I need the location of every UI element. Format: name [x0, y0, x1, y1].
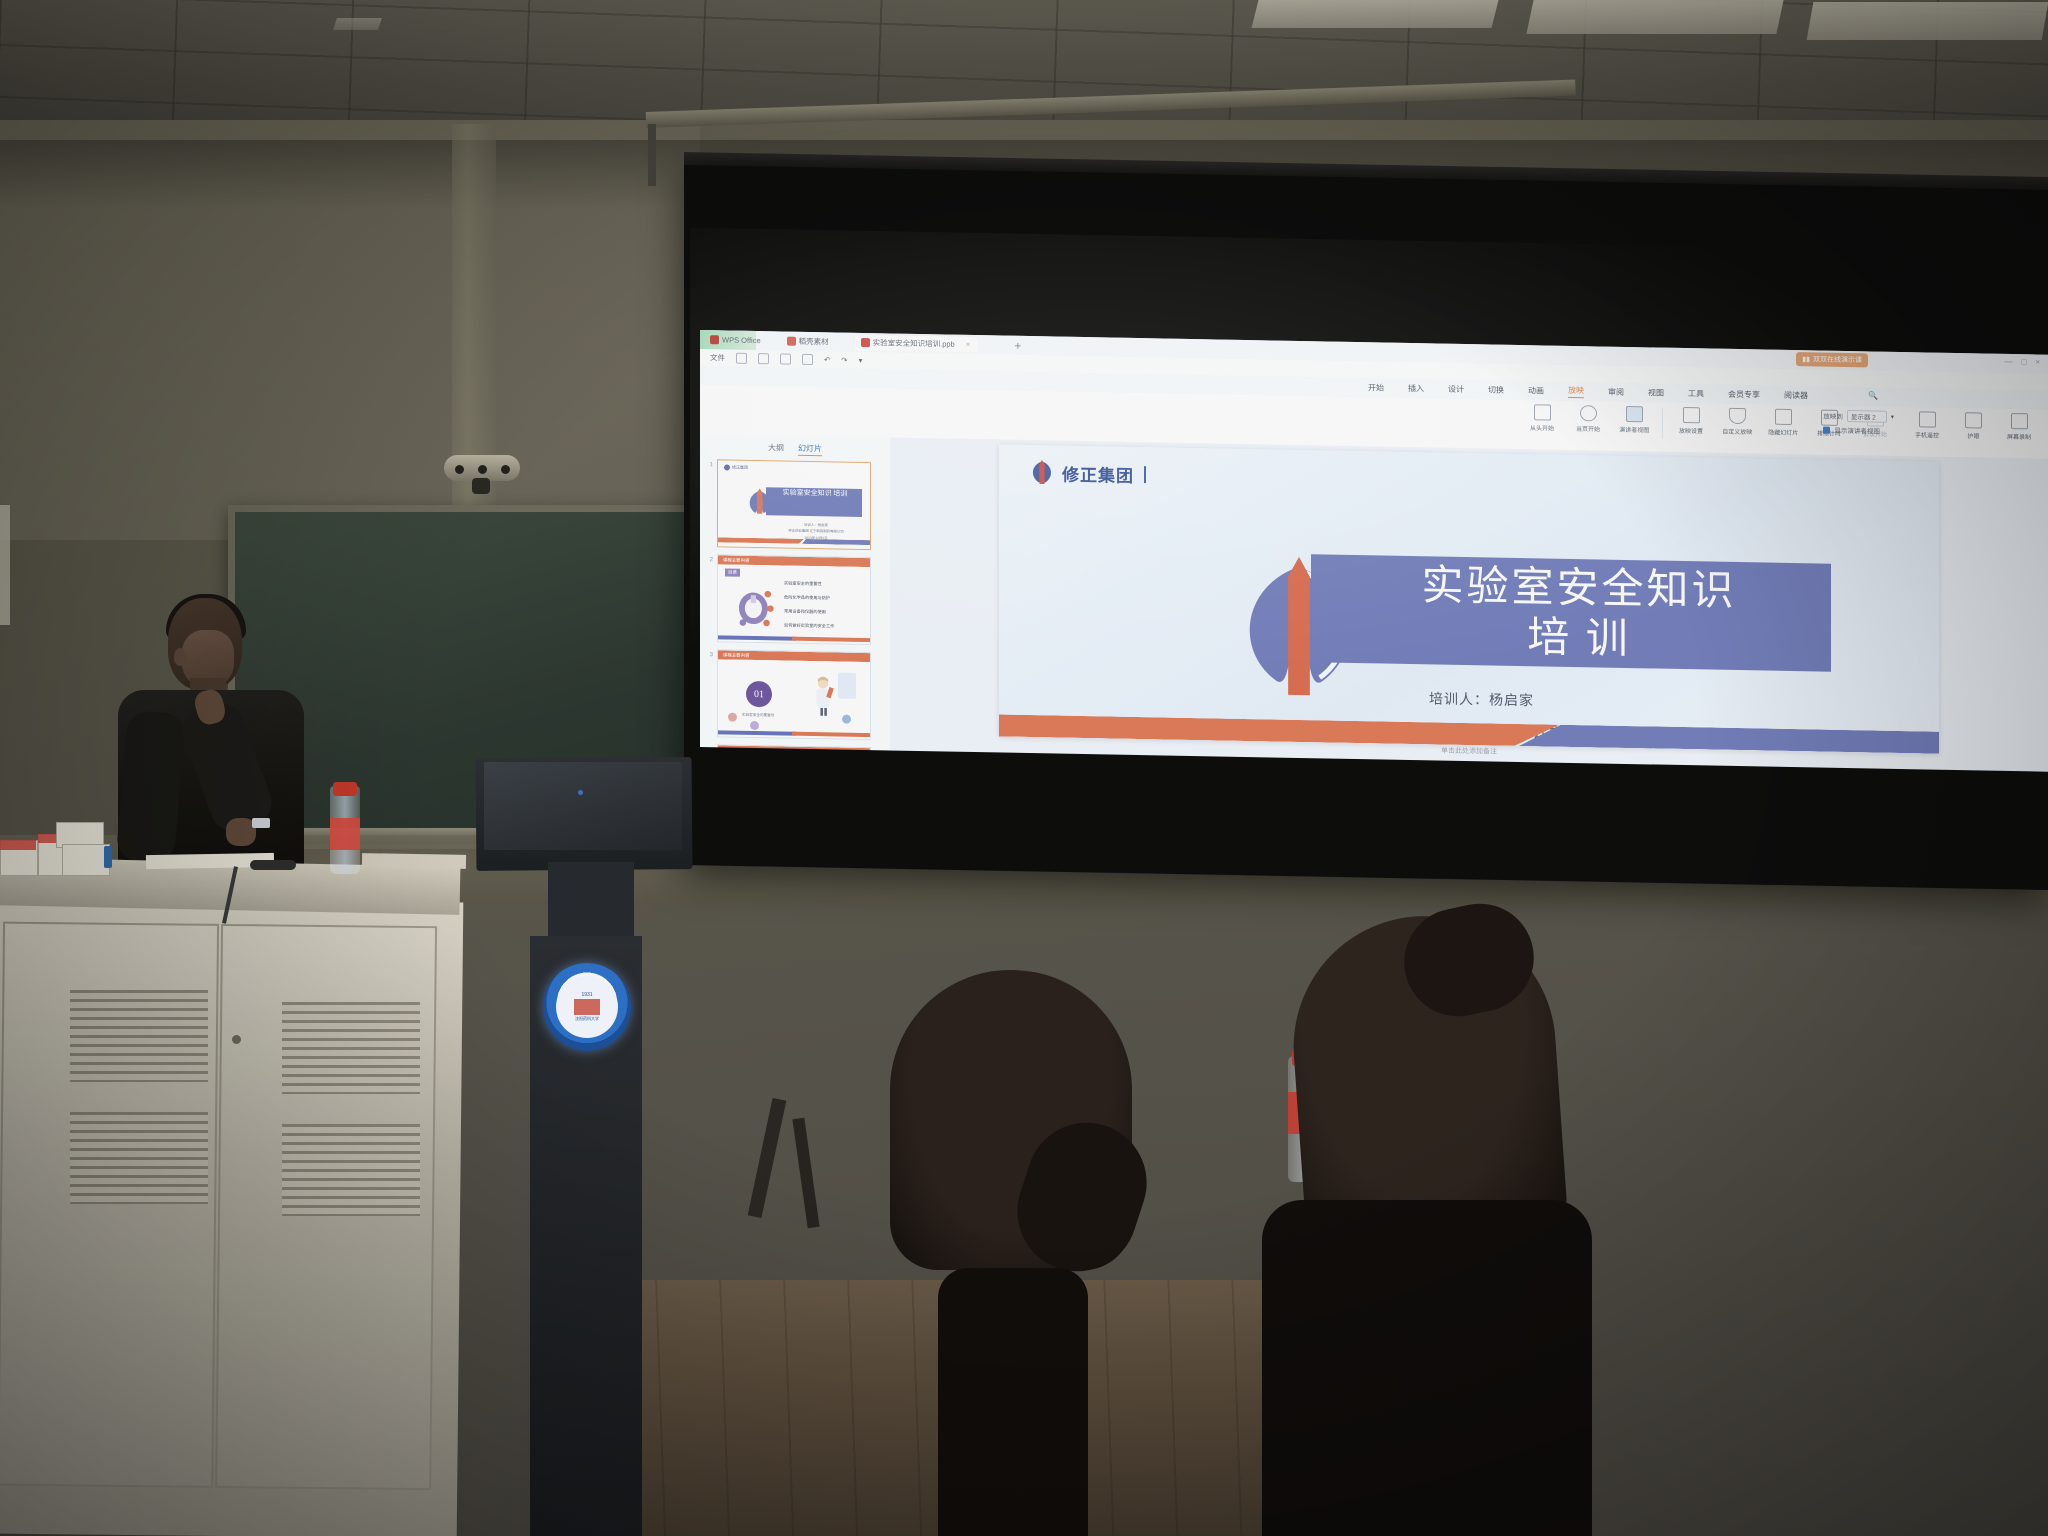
thumbnail-number: 1 — [706, 459, 713, 471]
thumb-footer-blue — [718, 730, 796, 735]
thumb-footer-blue — [718, 635, 796, 640]
slide-title: 实验室安全知识 培 训 — [1329, 561, 1829, 669]
water-bottle-label — [330, 818, 360, 850]
print-icon[interactable] — [780, 353, 791, 364]
thumbnail-number: 3 — [706, 649, 713, 661]
thumb-section-number: 01 — [746, 681, 772, 707]
tab-member[interactable]: 会员专享 — [1728, 388, 1760, 401]
podium-power-led — [578, 790, 583, 795]
chevron-down-icon[interactable]: ▾ — [1891, 413, 1894, 421]
close-tab-icon[interactable]: × — [966, 340, 971, 349]
tab-slides[interactable]: 幻灯片 — [798, 443, 822, 456]
thumbnail-row[interactable]: 2 课程主要内容 目录 — [706, 554, 884, 645]
button-play-from-start[interactable]: 从头开始 — [1519, 404, 1565, 433]
presenter-view-checkbox-label: 显示演讲者视图 — [1834, 425, 1880, 436]
box-stripe — [0, 840, 36, 850]
ribbon-right-group: 放映到 显示器 2 ▾ 显示演讲者视图 手机遥控 — [1823, 410, 2042, 442]
thumbnail-list: 1 修正集团 — [700, 459, 890, 772]
window-controls: — □ × — [2004, 357, 2040, 367]
ribbon-search-icon[interactable]: 🔍 — [1868, 391, 1878, 400]
button-label: 护眼 — [1967, 431, 1979, 440]
button-show-settings[interactable]: 放映设置 — [1668, 407, 1714, 436]
phone-remote-icon — [1919, 411, 1936, 427]
thumbnail-row[interactable]: 1 修正集团 — [706, 459, 884, 550]
microphone-base — [250, 860, 296, 870]
thumb-title: 实验室安全知识 培训 — [770, 488, 860, 498]
screen-mount-arm — [648, 124, 656, 186]
docer-tab[interactable]: 稻壳素材 — [787, 336, 829, 348]
thumb-logo: 修正集团 — [724, 464, 748, 470]
button-label: 屏幕录制 — [2007, 431, 2031, 441]
save-icon[interactable] — [736, 353, 747, 364]
presenter-ear — [174, 648, 186, 666]
slide-title-line2: 培 训 — [1329, 610, 1829, 669]
door-edge — [0, 505, 10, 625]
ceiling-light — [1252, 0, 1499, 28]
camera-dot — [455, 465, 464, 474]
virus-icon — [842, 715, 851, 724]
button-play-from-current[interactable]: 当页开始 — [1565, 405, 1611, 434]
eye-care-icon — [1965, 412, 1982, 428]
button-label: 演讲者视图 — [1619, 424, 1649, 434]
chevron-down-icon[interactable]: ▾ — [859, 356, 863, 365]
thumb-badge: 目录 — [725, 568, 740, 576]
docer-label: 稻壳素材 — [799, 336, 829, 348]
ceiling-light — [333, 18, 382, 30]
tab-slideshow[interactable]: 放映 — [1568, 385, 1584, 398]
virus-icon — [750, 721, 759, 730]
keyboard — [362, 853, 466, 869]
signal-icon: ▮▮ — [1802, 355, 1810, 363]
new-tab-button[interactable]: + — [1014, 338, 1021, 352]
box — [62, 844, 110, 876]
thumb-header-band-2 — [818, 557, 870, 567]
button-label: 隐藏幻灯片 — [1768, 427, 1798, 437]
tab-tools[interactable]: 工具 — [1688, 388, 1704, 400]
thumb-list-item: 常用设备和仪器的使用 — [784, 609, 826, 616]
wps-logo-icon — [710, 335, 719, 344]
marker-pen — [104, 846, 112, 868]
document-tab[interactable]: 实验室安全知识培训.ppb × — [855, 335, 979, 352]
company-mark-icon — [724, 464, 730, 470]
search-icon[interactable] — [758, 353, 769, 364]
print-preview-icon[interactable] — [802, 354, 813, 365]
minimize-button[interactable]: — — [2004, 357, 2012, 366]
lecture-hall-scene: ◄ ⬤ ▬ ▬ WPS Office 稻壳素材 实验室安全知识培训.ppb × — [0, 0, 2048, 1536]
ribbon-divider — [1662, 409, 1663, 439]
slide-company-logo: 修正集团 — [1029, 459, 1146, 487]
thumb-caption: 实验室安全的重要性 — [742, 713, 774, 719]
show-settings-icon — [1683, 407, 1700, 423]
thumbnail-row[interactable]: 3 课程主要内容 01 实验室安全的重要性 — [706, 649, 884, 740]
play-from-current-icon — [1580, 405, 1597, 421]
flask-hub-icon — [736, 586, 776, 629]
live-share-badge[interactable]: ▮▮ 双双在线演示课 — [1796, 352, 1868, 367]
display-target-select[interactable]: 显示器 2 — [1847, 410, 1887, 423]
checkbox-checked-icon[interactable] — [1823, 426, 1830, 433]
close-button[interactable]: × — [2035, 357, 2040, 366]
hide-slide-icon — [1775, 409, 1792, 425]
play-from-start-icon — [1534, 404, 1551, 420]
thumb-footer-orange — [792, 732, 870, 737]
button-label: 当页开始 — [1576, 423, 1600, 433]
button-screen-record[interactable]: 屏幕录制 — [1996, 413, 2042, 442]
ppt-file-icon — [861, 338, 870, 347]
display-target-label: 放映到 — [1823, 411, 1843, 421]
tab-view[interactable]: 视图 — [1648, 387, 1664, 399]
slide-thumbnail-1[interactable]: 修正集团 实验室安全知识 培训 培训人：杨启家修正药业集团 辽宁新高制药有限公司… — [717, 459, 871, 550]
projected-image: WPS Office 稻壳素材 实验室安全知识培训.ppb × + ▮▮ 双双在… — [700, 247, 2048, 772]
work-area: 大纲 幻灯片 1 修正集团 — [700, 434, 2048, 772]
button-eye-care[interactable]: 护眼 — [1950, 412, 1996, 441]
presenter-view-icon — [1626, 406, 1643, 422]
tab-review[interactable]: 审阅 — [1608, 386, 1624, 398]
custom-show-icon — [1729, 408, 1746, 424]
thumb-list-item: 实验室安全的重要性 — [784, 581, 822, 588]
button-label: 从头开始 — [1530, 423, 1554, 433]
thumb-header-label: 课程主要内容 — [723, 557, 749, 563]
scientist-icon — [810, 674, 836, 718]
cabinet-vent — [282, 1002, 420, 1094]
audience-member-1-body — [938, 1268, 1088, 1536]
thumbnail-number: 2 — [706, 554, 713, 566]
button-phone-remote[interactable]: 手机遥控 — [1904, 411, 1950, 440]
slide-thumbnail-2[interactable]: 课程主要内容 目录 — [717, 554, 871, 645]
cabinet-vent — [282, 1124, 420, 1216]
cabinet-vent — [70, 1112, 208, 1204]
thumb-list-item: 危险化学品的使用与防护 — [784, 595, 830, 602]
slide-canvas-area: 修正集团 实验室安全知识 培 训 — [890, 437, 2048, 771]
university-crest-inner: 1931 沈阳药科大学 — [556, 976, 618, 1038]
desk-boxes — [0, 818, 112, 874]
current-slide[interactable]: 修正集团 实验室安全知识 培 训 — [999, 444, 1939, 753]
audience-member-2-body — [1262, 1200, 1592, 1536]
tab-start[interactable]: 开始 — [1368, 382, 1384, 394]
virus-icon — [728, 713, 737, 722]
cabinet-vent — [70, 990, 208, 1082]
live-share-label: 双双在线演示课 — [1813, 354, 1862, 365]
ceiling-light — [1526, 0, 1783, 34]
cabinet-handle[interactable] — [232, 1035, 241, 1044]
camera-lens — [472, 478, 490, 494]
redo-icon[interactable]: ↷ — [841, 356, 847, 365]
crest-name: 沈阳药科大学 — [575, 1016, 599, 1022]
tab-reader[interactable]: 阅读器 — [1784, 389, 1808, 401]
file-menu-button[interactable]: 文件 — [710, 352, 725, 363]
button-label: 手机遥控 — [1915, 430, 1939, 440]
maximize-button[interactable]: □ — [2021, 357, 2026, 366]
presenter-view-checkbox-row[interactable]: 显示演讲者视图 — [1823, 425, 1894, 436]
thumb-header-label: 课程主要内容 — [723, 652, 749, 658]
company-mark-icon — [1029, 459, 1055, 485]
camera-dot — [501, 465, 510, 474]
screen-record-icon — [2011, 413, 2028, 429]
company-logo-text: 修正集团 — [1062, 460, 1134, 486]
button-hide-slide[interactable]: 隐藏幻灯片 — [1760, 408, 1806, 437]
tab-insert[interactable]: 插入 — [1408, 382, 1424, 394]
button-label: 放映设置 — [1679, 425, 1703, 435]
camera-dot — [478, 465, 487, 474]
button-presenter-view[interactable]: 演讲者视图 — [1611, 406, 1657, 435]
tab-outline[interactable]: 大纲 — [768, 442, 784, 455]
crest-year: 1931 — [581, 992, 592, 998]
thumb-list-item: 如何做好实验室的安全工作 — [784, 623, 834, 630]
undo-icon[interactable]: ↶ — [824, 355, 830, 364]
crest-building-icon — [574, 999, 600, 1015]
slide-thumbnail-panel: 大纲 幻灯片 1 修正集团 — [700, 434, 890, 757]
tab-design[interactable]: 设计 — [1448, 383, 1464, 395]
thumb-header-band-2 — [818, 652, 870, 662]
app-name-label: WPS Office — [722, 335, 761, 345]
water-bottle-cap — [333, 782, 357, 796]
tab-transition[interactable]: 切换 — [1488, 384, 1504, 396]
wps-office-window: WPS Office 稻壳素材 实验室安全知识培训.ppb × + ▮▮ 双双在… — [700, 330, 2048, 772]
button-label: 自定义放映 — [1722, 426, 1752, 436]
display-settings-group: 放映到 显示器 2 ▾ 显示演讲者视图 — [1823, 410, 1894, 436]
podium-monitor-screen — [484, 762, 682, 850]
app-menu-button[interactable]: WPS Office — [710, 335, 761, 345]
document-tab-label: 实验室安全知识培训.ppb — [873, 337, 955, 350]
docer-icon — [787, 337, 796, 346]
thumb-image-block — [838, 673, 856, 699]
ceiling-light — [1807, 2, 2048, 40]
slide-title-line1: 实验室安全知识 — [1329, 561, 1829, 620]
slide-thumbnail-3[interactable]: 课程主要内容 01 实验室安全的重要性 — [717, 649, 871, 740]
logo-divider — [1144, 466, 1146, 483]
display-target-row: 放映到 显示器 2 ▾ — [1823, 410, 1894, 423]
thumb-footer-orange — [792, 637, 870, 642]
tab-animation[interactable]: 动画 — [1528, 385, 1544, 397]
podium-monitor-stand — [548, 862, 634, 942]
thumb-logo-label: 修正集团 — [732, 465, 748, 471]
presenter-watch — [252, 818, 270, 828]
button-custom-show[interactable]: 自定义放映 — [1714, 408, 1760, 437]
